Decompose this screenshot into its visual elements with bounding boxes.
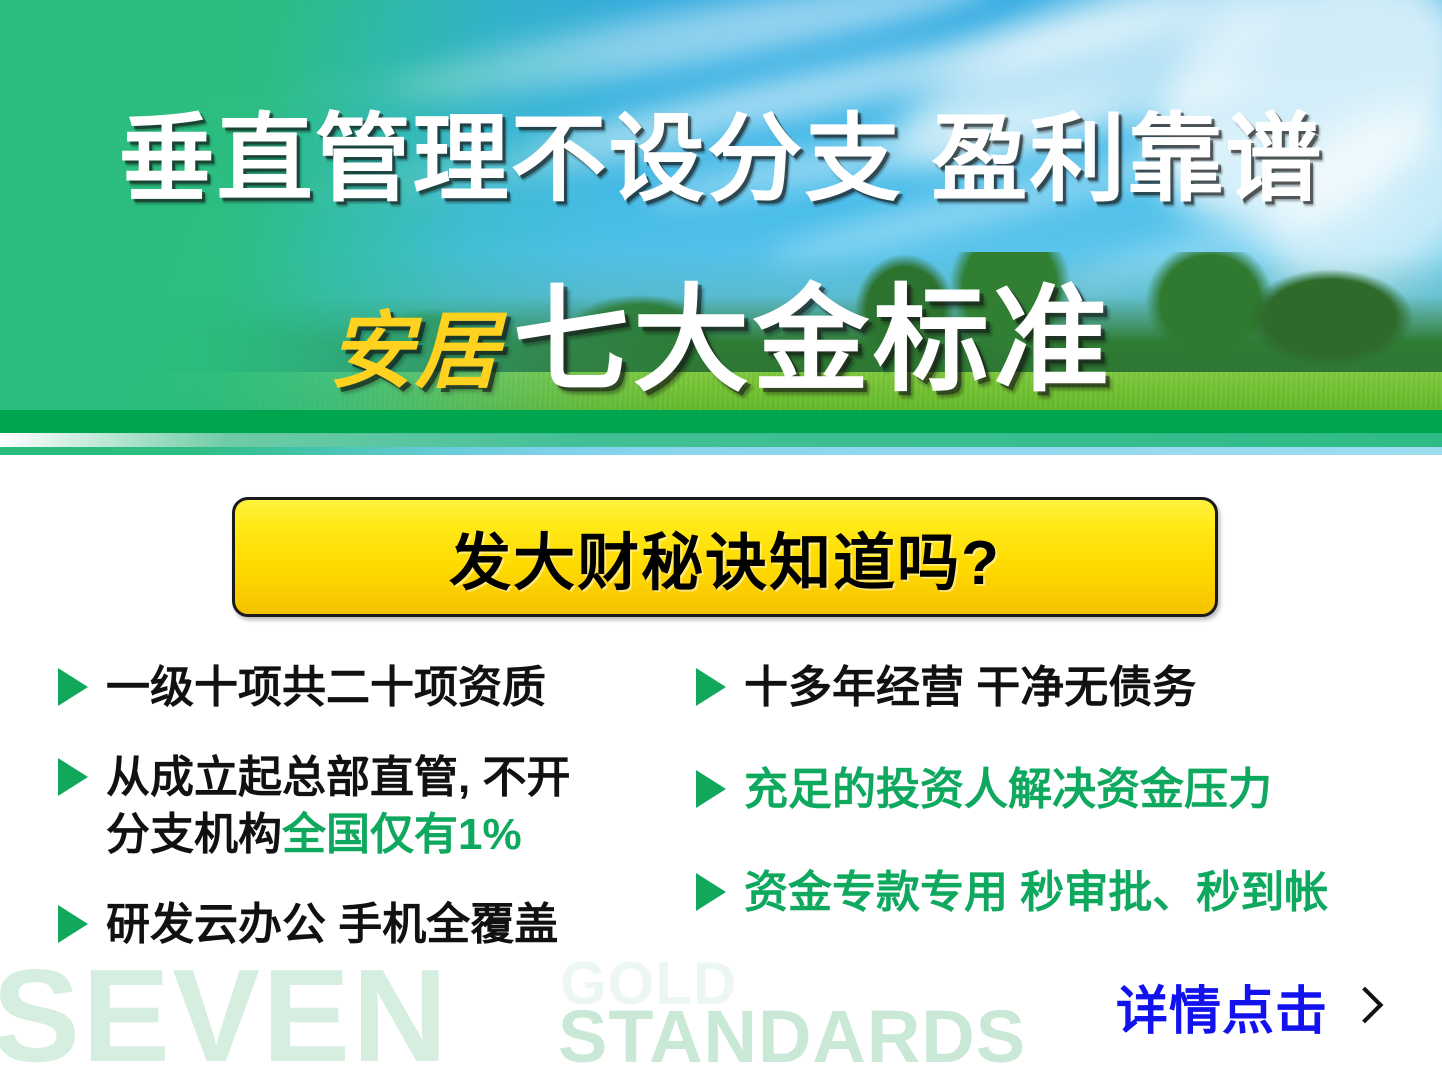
list-item: 资金专款专用 秒审批、秒到帐 [696, 865, 1416, 921]
features-left-column: 一级十项共二十项资质 从成立起总部直管, 不开分支机构全国仅有1% 研发云办公 … [58, 660, 698, 987]
hero-subheadline-row: 安居七大金标准 [0, 282, 1442, 398]
triangle-bullet-icon [696, 873, 726, 911]
features-section: 一级十项共二十项资质 从成立起总部直管, 不开分支机构全国仅有1% 研发云办公 … [0, 660, 1442, 990]
feature-text-line1: 从成立起总部直管, 不开 [106, 753, 570, 802]
advertisement-banner: 垂直管理不设分支 盈利靠谱 安居七大金标准 发大财秘诀知道吗? 一级十项共二十项… [0, 0, 1442, 1066]
feature-text: 充足的投资人解决资金压力 [744, 762, 1272, 818]
hero-bottom-green-bar [0, 410, 1442, 434]
features-right-column: 十多年经营 干净无债务 充足的投资人解决资金压力 资金专款专用 秒审批、秒到帐 [696, 660, 1416, 967]
hero-subheadline: 七大金标准 [513, 275, 1113, 405]
feature-text-line2-prefix: 分支机构 [106, 810, 282, 859]
question-banner-text: 发大财秘诀知道吗? [449, 512, 1001, 602]
details-cta-link[interactable]: 详情点击 [1116, 969, 1376, 1044]
hero-section: 垂直管理不设分支 盈利靠谱 安居七大金标准 [0, 0, 1442, 455]
question-banner[interactable]: 发大财秘诀知道吗? [232, 497, 1218, 617]
details-cta-label: 详情点击 [1116, 969, 1328, 1044]
feature-text: 一级十项共二十项资质 [106, 660, 546, 716]
triangle-bullet-icon [696, 770, 726, 808]
list-item: 十多年经营 干净无债务 [696, 660, 1416, 716]
list-item: 从成立起总部直管, 不开分支机构全国仅有1% [58, 750, 698, 863]
triangle-bullet-icon [58, 758, 88, 796]
hero-headline: 垂直管理不设分支 盈利靠谱 [0, 112, 1442, 208]
feature-text: 研发云办公 手机全覆盖 [106, 897, 558, 953]
chevron-right-icon [1350, 985, 1376, 1029]
list-item: 充足的投资人解决资金压力 [696, 762, 1416, 818]
triangle-bullet-icon [58, 905, 88, 943]
feature-text: 资金专款专用 秒审批、秒到帐 [744, 865, 1328, 921]
hero-bottom-fade-strip [0, 433, 1442, 447]
triangle-bullet-icon [696, 668, 726, 706]
list-item: 研发云办公 手机全覆盖 [58, 897, 698, 953]
feature-text: 从成立起总部直管, 不开分支机构全国仅有1% [106, 750, 570, 863]
triangle-bullet-icon [58, 668, 88, 706]
watermark-standards: STANDARDS [558, 1000, 1026, 1066]
list-item: 一级十项共二十项资质 [58, 660, 698, 716]
hero-brand-name: 安居 [329, 301, 501, 400]
feature-text-highlight: 全国仅有1% [282, 810, 522, 859]
feature-text: 十多年经营 干净无债务 [744, 660, 1196, 716]
